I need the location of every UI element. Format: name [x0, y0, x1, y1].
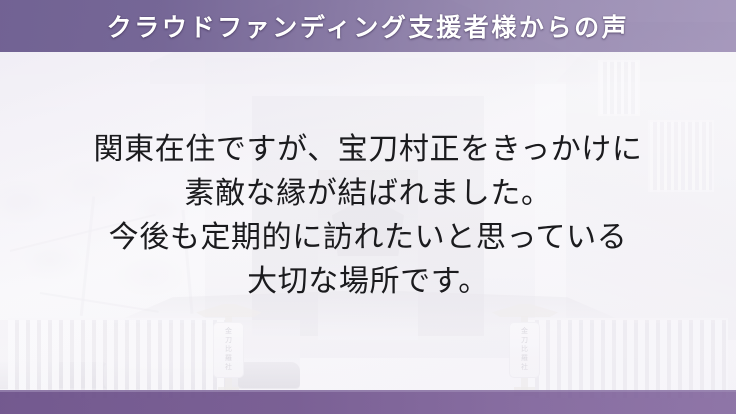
- testimonial-line: 大切な場所です。: [0, 260, 736, 304]
- footer-band: [0, 390, 736, 414]
- slide-root: 金 刀 比 羅 社 金 刀 比 羅 社 クラウドファンディング支援者様からの声 …: [0, 0, 736, 414]
- page-title: クラウドファンディング支援者様からの声: [107, 8, 630, 44]
- testimonial-line: 今後も定期的に訪れたいと思っている: [0, 216, 736, 260]
- testimonial-line: 関東在住ですが、宝刀村正をきっかけに: [0, 128, 736, 172]
- testimonial-text: 関東在住ですが、宝刀村正をきっかけに 素敵な縁が結ばれました。 今後も定期的に訪…: [0, 128, 736, 304]
- testimonial-line: 素敵な縁が結ばれました。: [0, 172, 736, 216]
- header-band: クラウドファンディング支援者様からの声: [0, 0, 736, 52]
